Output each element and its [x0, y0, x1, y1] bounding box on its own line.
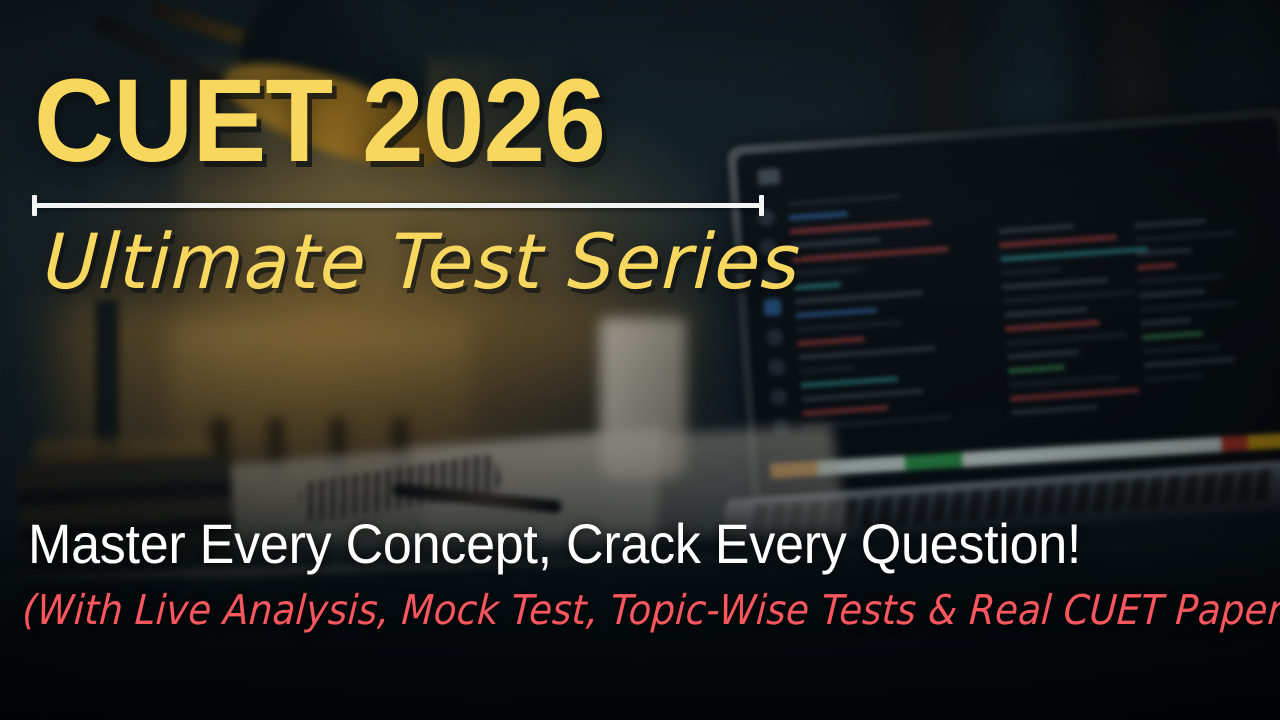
headline-title: CUET 2026 — [34, 62, 605, 180]
tagline-text: Master Every Concept, Crack Every Questi… — [28, 513, 1081, 575]
subtagline-text: (With Live Analysis, Mock Test, Topic-Wi… — [21, 588, 1280, 633]
poster-text-content: CUET 2026 Ultimate Test Series Master Ev… — [0, 0, 1280, 720]
promo-poster: CUET 2026 Ultimate Test Series Master Ev… — [0, 0, 1280, 720]
subheadline-title: Ultimate Test Series — [42, 222, 803, 302]
divider-rule — [32, 203, 764, 208]
